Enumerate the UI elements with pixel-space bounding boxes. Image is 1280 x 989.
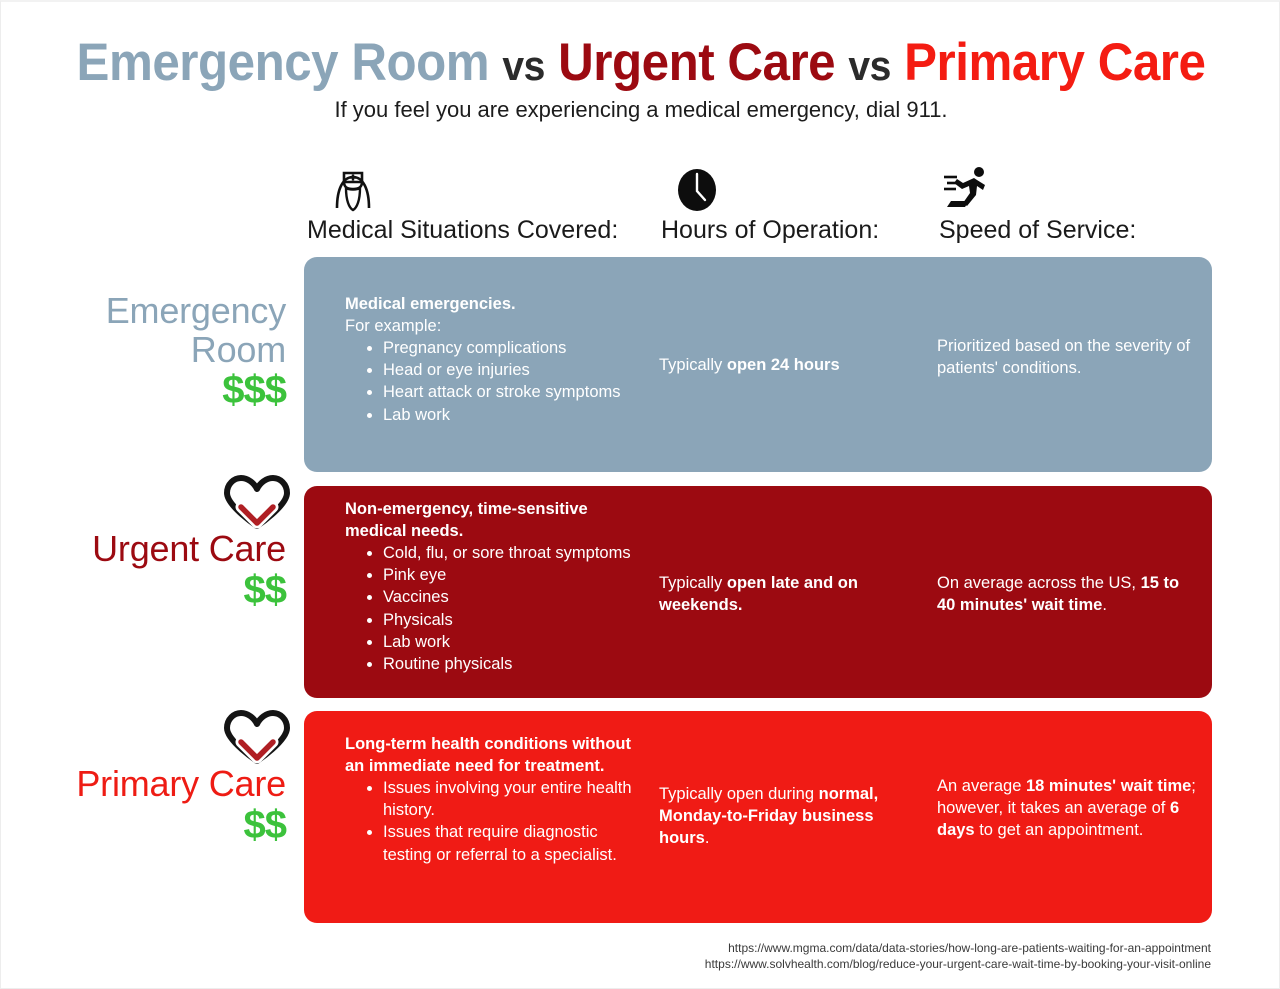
speed-pre: An average	[937, 777, 1026, 795]
column-header-speed-label: Speed of Service:	[939, 216, 1136, 244]
runner-icon	[939, 162, 1179, 214]
page-title: Emergency Room vs Urgent Care vs Primary…	[1, 36, 1280, 89]
panel-emergency-room: Medical emergencies. For example: Pregna…	[304, 257, 1212, 472]
hours-pre: Typically open during	[659, 785, 819, 803]
speed-pre: On average across the US,	[937, 574, 1141, 592]
list-item: Lab work	[383, 631, 645, 653]
title-vs-1: vs	[502, 42, 545, 89]
column-headers: Medical Situations Covered: Hours of Ope…	[1, 162, 1280, 252]
row-label-emergency-room: Emergency Room $$$	[26, 292, 286, 411]
cost-indicator-primary-care: $$	[26, 804, 286, 846]
column-header-situations: Medical Situations Covered:	[307, 162, 637, 245]
row-label-emergency-room-line1: Emergency	[26, 292, 286, 331]
heart-check-icon-urgent-care	[219, 474, 295, 536]
source-link-1[interactable]: https://www.mgma.com/data/data-stories/h…	[511, 940, 1211, 956]
cell-speed-primary-care: An average 18 minutes' wait time; howeve…	[937, 775, 1197, 841]
list-item: Physicals	[383, 609, 645, 631]
clock-icon	[661, 162, 901, 214]
situations-lead: Medical emergencies.	[345, 293, 645, 315]
infographic-page: Emergency Room vs Urgent Care vs Primary…	[0, 0, 1280, 989]
speed-post-2: to get an appointment.	[975, 821, 1144, 839]
list-item: Head or eye injuries	[383, 359, 645, 381]
panel-urgent-care: Non-emergency, time-sensitive medical ne…	[304, 486, 1212, 698]
cell-situations-primary-care: Long-term health conditions without an i…	[345, 733, 645, 866]
page-subtitle: If you feel you are experiencing a medic…	[1, 97, 1280, 123]
list-item: Issues that require diagnostic testing o…	[383, 821, 645, 865]
title-vs-2: vs	[848, 42, 891, 89]
nurse-icon	[307, 162, 637, 214]
list-item: Vaccines	[383, 586, 645, 608]
panel-primary-care: Long-term health conditions without an i…	[304, 711, 1212, 923]
column-header-situations-label: Medical Situations Covered:	[307, 216, 618, 244]
row-label-emergency-room-line2: Room	[26, 331, 286, 370]
title-emergency-room: Emergency Room	[77, 33, 490, 92]
list-item: Cold, flu, or sore throat symptoms	[383, 542, 645, 564]
title-urgent-care: Urgent Care	[558, 33, 835, 92]
list-item: Issues involving your entire health hist…	[383, 777, 645, 821]
row-label-urgent-care: Urgent Care $$	[26, 530, 286, 611]
hours-bold: open 24 hours	[727, 356, 840, 374]
row-label-urgent-care-line1: Urgent Care	[26, 530, 286, 569]
row-label-primary-care-line1: Primary Care	[26, 765, 286, 804]
speed-bold: 18 minutes' wait time	[1026, 777, 1191, 795]
source-link-2[interactable]: https://www.solvhealth.com/blog/reduce-y…	[511, 956, 1211, 972]
cell-hours-primary-care: Typically open during normal, Monday-to-…	[659, 783, 899, 849]
list-item: Pregnancy complications	[383, 337, 645, 359]
cell-hours-emergency-room: Typically open 24 hours	[659, 354, 899, 376]
situations-list: Pregnancy complications Head or eye inju…	[383, 337, 645, 425]
list-item: Lab work	[383, 404, 645, 426]
title-primary-care: Primary Care	[904, 33, 1205, 92]
heart-check-icon-primary-care	[219, 709, 295, 771]
cell-speed-urgent-care: On average across the US, 15 to 40 minut…	[937, 572, 1197, 616]
situations-list: Issues involving your entire health hist…	[383, 777, 645, 865]
situations-list: Cold, flu, or sore throat symptoms Pink …	[383, 542, 645, 675]
cell-situations-emergency-room: Medical emergencies. For example: Pregna…	[345, 293, 645, 426]
situations-lead: Long-term health conditions without an i…	[345, 733, 645, 777]
hours-pre: Typically	[659, 356, 727, 374]
situations-sub: For example:	[345, 315, 645, 337]
cost-indicator-emergency-room: $$$	[26, 369, 286, 411]
speed-post: .	[1102, 596, 1107, 614]
cell-situations-urgent-care: Non-emergency, time-sensitive medical ne…	[345, 498, 645, 675]
column-header-hours: Hours of Operation:	[661, 162, 901, 245]
cell-hours-urgent-care: Typically open late and on weekends.	[659, 572, 899, 616]
list-item: Heart attack or stroke symptoms	[383, 381, 645, 403]
cost-indicator-urgent-care: $$	[26, 569, 286, 611]
situations-lead: Non-emergency, time-sensitive medical ne…	[345, 498, 645, 542]
column-header-speed: Speed of Service:	[939, 162, 1179, 245]
list-item: Routine physicals	[383, 653, 645, 675]
cell-speed-emergency-room: Prioritized based on the severity of pat…	[937, 335, 1197, 379]
list-item: Pink eye	[383, 564, 645, 586]
speed-pre: Prioritized based on the severity of pat…	[937, 337, 1190, 377]
hours-post: .	[705, 829, 710, 847]
column-header-hours-label: Hours of Operation:	[661, 216, 879, 244]
source-citations: https://www.mgma.com/data/data-stories/h…	[511, 940, 1211, 972]
row-label-primary-care: Primary Care $$	[26, 765, 286, 846]
hours-pre: Typically	[659, 574, 727, 592]
